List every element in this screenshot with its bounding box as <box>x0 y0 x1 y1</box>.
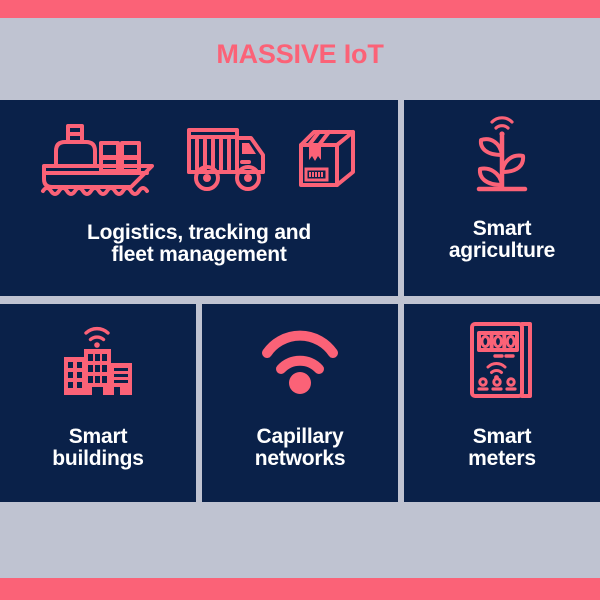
infographic-poster: MASSIVE IoT <box>0 0 600 600</box>
logistics-icon-row <box>0 100 398 218</box>
bottom-accent-bar <box>0 578 600 600</box>
cargo-ship-icon <box>39 121 159 197</box>
card-capillary-label-line2: networks <box>255 448 346 470</box>
capillary-icon-wrap <box>202 304 398 416</box>
card-capillary-label: Capillary networks <box>255 416 346 471</box>
card-capillary[interactable]: Capillary networks <box>202 304 398 502</box>
card-logistics[interactable]: Logistics, tracking and fleet management <box>0 100 398 296</box>
card-buildings-label: Smart buildings <box>52 416 144 471</box>
card-logistics-label-line1: Logistics, tracking and <box>87 222 311 244</box>
plant-sprout-wifi-icon <box>466 110 538 202</box>
wifi-signal-icon <box>257 323 343 397</box>
card-agriculture-label-line1: Smart <box>449 218 555 240</box>
card-agriculture-label-line2: agriculture <box>449 240 555 262</box>
card-buildings-label-line2: buildings <box>52 448 144 470</box>
card-agriculture-label: Smart agriculture <box>449 212 555 263</box>
buildings-icon-wrap <box>0 304 196 416</box>
card-meters-label: Smart meters <box>468 416 536 471</box>
agriculture-icon-wrap <box>404 100 600 212</box>
delivery-truck-icon <box>185 124 271 194</box>
card-capillary-label-line1: Capillary <box>255 426 346 448</box>
top-accent-bar <box>0 0 600 18</box>
meters-icon-wrap <box>404 304 600 416</box>
page-title: MASSIVE IoT <box>0 38 600 70</box>
card-meters-label-line2: meters <box>468 448 536 470</box>
city-buildings-wifi-icon <box>56 321 140 399</box>
card-logistics-label: Logistics, tracking and fleet management <box>87 218 311 267</box>
card-meters-label-line1: Smart <box>468 426 536 448</box>
card-agriculture[interactable]: Smart agriculture <box>404 100 600 296</box>
smart-meter-icon <box>465 319 539 401</box>
package-box-icon <box>297 128 359 190</box>
card-logistics-label-line2: fleet management <box>87 244 311 266</box>
card-buildings[interactable]: Smart buildings <box>0 304 196 502</box>
card-meters[interactable]: Smart meters <box>404 304 600 502</box>
card-buildings-label-line1: Smart <box>52 426 144 448</box>
